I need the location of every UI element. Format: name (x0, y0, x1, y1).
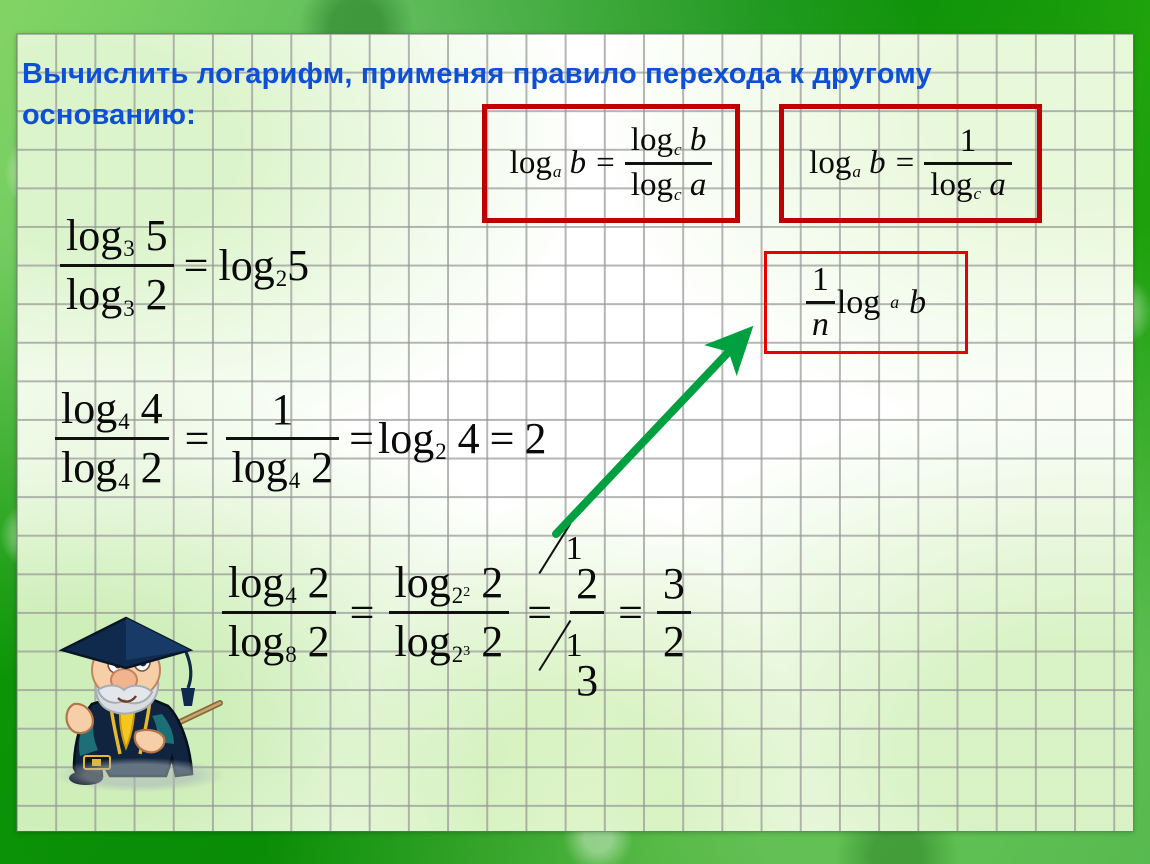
example-1-fraction: log3 5 log3 2 (60, 210, 174, 322)
rule2-fraction: 1 logc a (924, 123, 1012, 205)
example-3-complex-denominator: 1 3 (570, 616, 604, 706)
example-2-numerator-1: log4 4 (55, 383, 169, 435)
mascot-shadow (54, 758, 224, 792)
example-3-operator-3: = (618, 587, 643, 638)
rule-box-power-base: 1 n log a b (764, 251, 968, 354)
rule2-fraction-bar (924, 162, 1012, 165)
rule1-denominator: logc a (625, 167, 713, 205)
example-3-operator-1: = (350, 587, 375, 638)
example-1-result: log25 (219, 240, 310, 292)
example-2-operator-1: = (185, 413, 210, 464)
rule3-arg: b (909, 284, 926, 322)
rule-box-reciprocal: loga b = 1 logc a (779, 104, 1042, 223)
rule2-denominator: logc a (924, 167, 1012, 205)
example-3-fraction-bar-2 (389, 611, 510, 614)
example-1: log3 5 log3 2 = log25 (60, 210, 309, 322)
rule2-equals: = (896, 145, 915, 182)
rule2-lhs: loga b (809, 145, 886, 183)
example-3-complex-bar (570, 611, 604, 614)
example-2-denominator-2: log4 2 (226, 442, 340, 494)
rule3-coefficient-numerator: 1 (806, 261, 835, 299)
example-3-result-denominator: 2 (657, 616, 691, 667)
slide-canvas: Вычислить логарифм, применяя правило пер… (0, 0, 1150, 864)
example-3-complex-fraction: 1 2 1 3 (570, 519, 604, 706)
rule3-log: log (837, 284, 880, 322)
example-2-fraction-1: log4 4 log4 2 (55, 383, 169, 495)
cancelled-one-top: 1 (566, 529, 583, 568)
rule1-fraction: logc b logc a (625, 122, 713, 205)
rule3-coefficient-bar (806, 301, 835, 304)
example-2-result: 2 (525, 413, 547, 464)
example-2-fraction-2: 1 log4 2 (226, 384, 340, 494)
tassel-cord (186, 652, 191, 688)
rule1-equals: = (596, 145, 615, 182)
example-2-denominator-1: log4 2 (55, 442, 169, 494)
example-3-result-fraction: 3 2 (657, 558, 691, 667)
example-3: log4 2 log8 2 = log22 2 log23 2 = 1 2 (222, 519, 691, 706)
cancelled-one-bottom: 1 (566, 626, 583, 665)
rule-box-change-of-base: loga b = logc b logc a (482, 104, 740, 223)
example-3-result-numerator: 3 (657, 558, 691, 609)
rule3-coefficient: 1 n (806, 261, 835, 344)
rule3-coefficient-denominator: n (806, 306, 835, 344)
rule2-numerator: 1 (954, 123, 983, 160)
example-2-fraction-bar-1 (55, 437, 169, 440)
example-3-operator-2: = (527, 587, 552, 638)
example-3-numerator-2: log22 2 (389, 557, 510, 609)
professor-cartoon (40, 608, 245, 813)
example-1-numerator: log3 5 (60, 210, 174, 262)
example-2-operator-3: = (490, 413, 515, 464)
example-3-numerator-1: log4 2 (222, 557, 336, 609)
rule1-fraction-bar (625, 162, 713, 165)
example-2-fraction-bar-2 (226, 437, 340, 440)
example-2-operator-2: = (349, 413, 374, 464)
example-3-fraction-2: log22 2 log23 2 (389, 557, 510, 669)
example-2-numerator-2: 1 (265, 384, 299, 435)
example-1-denominator: log3 2 (60, 269, 174, 321)
example-2: log4 4 log4 2 = 1 log4 2 = log2 4 = 2 (55, 383, 547, 495)
example-3-denominator-2: log23 2 (389, 616, 510, 668)
rule3-base: a (890, 292, 899, 313)
example-1-operator: = (184, 240, 209, 291)
example-2-log: log2 4 (378, 413, 480, 465)
example-3-result-bar (657, 611, 691, 614)
example-1-fraction-bar (60, 264, 174, 267)
tassel (181, 688, 195, 706)
example-3-complex-numerator: 1 2 (570, 519, 604, 609)
rule1-lhs: loga b (510, 145, 587, 183)
rule1-numerator: logc b (625, 122, 713, 160)
